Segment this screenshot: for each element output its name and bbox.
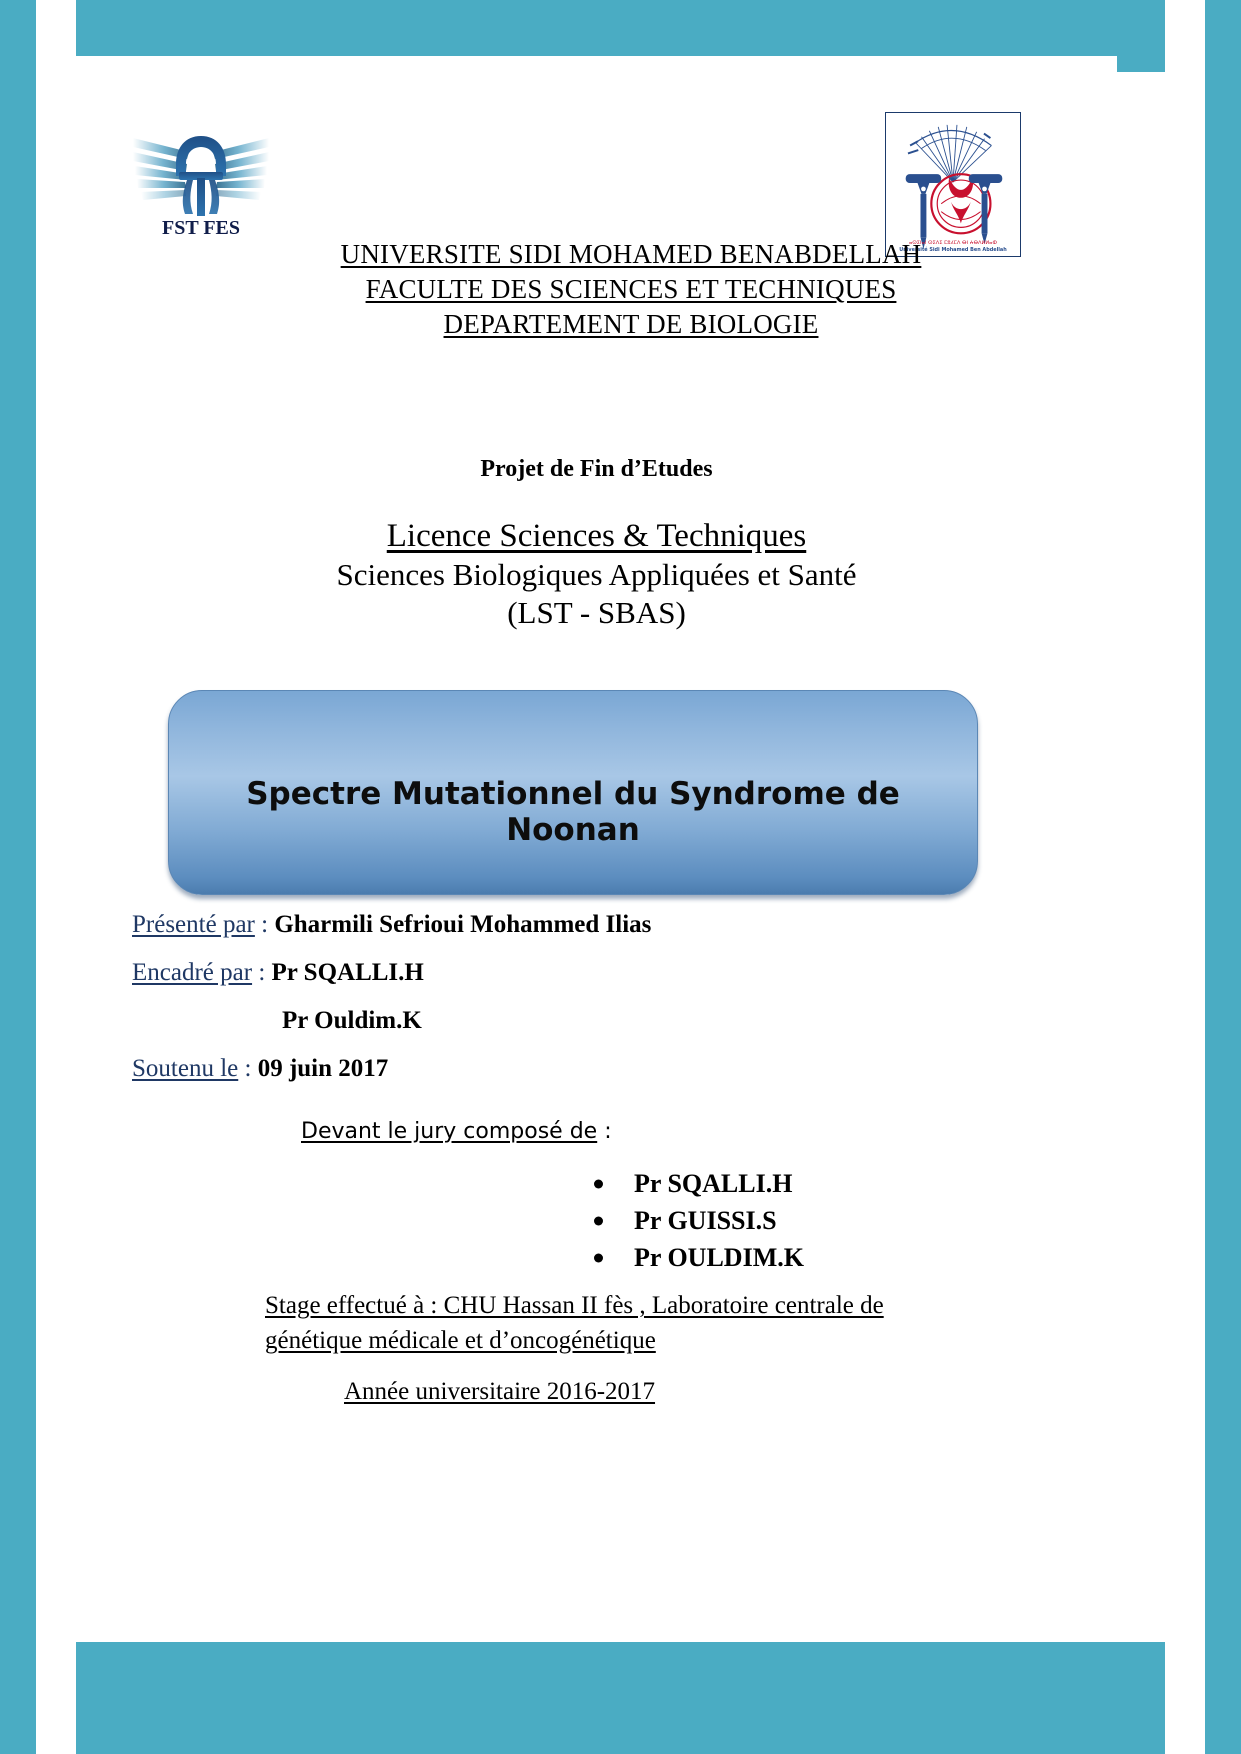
frame-band-left	[0, 0, 36, 1754]
jury-heading-suffix: :	[597, 1119, 611, 1144]
degree-line-2: Sciences Biologiques Appliquées et Santé	[76, 556, 1117, 594]
degree-line-1: Licence Sciences & Techniques	[76, 516, 1117, 556]
jury-heading: Devant le jury composé de :	[301, 1119, 612, 1144]
jury-member-list: Pr SQALLI.H Pr GUISSI.S Pr OULDIM.K	[594, 1166, 804, 1277]
internship-info: Stage effectué à : CHU Hassan II fès , L…	[265, 1288, 965, 1358]
cover-content: FST FES	[76, 56, 1117, 1442]
supervised-by-row: Encadré par : Pr SQALLI.H	[132, 959, 1112, 987]
jury-member-label: Pr SQALLI.H	[634, 1169, 792, 1198]
internship-line-2: génétique médicale et d’oncogénétique	[265, 1327, 656, 1354]
supervised-by-value-2: Pr Ouldim.K	[282, 1007, 422, 1034]
institution-header: UNIVERSITE SIDI MOHAMED BENABDELLAH FACU…	[281, 237, 981, 342]
bullet-icon	[594, 1180, 603, 1189]
frame-gap-left	[36, 0, 76, 1754]
jury-member-label: Pr OULDIM.K	[634, 1243, 804, 1272]
list-item: Pr OULDIM.K	[594, 1240, 804, 1277]
defended-on-value: 09 juin 2017	[258, 1055, 389, 1082]
frame-band-bottom	[0, 1642, 1241, 1754]
presented-by-separator: :	[255, 911, 274, 938]
cover-meta: Présenté par : Gharmili Sefrioui Mohamme…	[132, 911, 1112, 1103]
thesis-title: Spectre Mutationnel du Syndrome de Noona…	[169, 776, 977, 848]
header-line-faculty-text: FACULTE DES SCIENCES ET TECHNIQUES	[366, 274, 897, 304]
header-line-university-text: UNIVERSITE SIDI MOHAMED BENABDELLAH	[341, 239, 922, 269]
jury-heading-text: Devant le jury composé de	[301, 1119, 597, 1144]
internship-line-1: Stage effectué à : CHU Hassan II fès , L…	[265, 1292, 884, 1319]
svg-text:FST FES: FST FES	[162, 217, 240, 239]
degree-line-1-text: Licence Sciences & Techniques	[387, 518, 807, 554]
degree-line-3: (LST - SBAS)	[76, 594, 1117, 632]
presented-by-row: Présenté par : Gharmili Sefrioui Mohamme…	[132, 911, 1112, 939]
supervised-by-separator: :	[252, 959, 271, 986]
defended-on-row: Soutenu le : 09 juin 2017	[132, 1055, 1112, 1083]
jury-member-label: Pr GUISSI.S	[634, 1206, 777, 1235]
presented-by-label: Présenté par	[132, 911, 255, 938]
bullet-icon	[594, 1254, 603, 1263]
header-line-department: DEPARTEMENT DE BIOLOGIE	[281, 307, 981, 342]
frame-gap-right	[1165, 0, 1205, 1754]
defended-on-separator: :	[238, 1055, 257, 1082]
list-item: Pr SQALLI.H	[594, 1166, 804, 1203]
header-line-faculty: FACULTE DES SCIENCES ET TECHNIQUES	[281, 272, 981, 307]
supervised-by-value: Pr SQALLI.H	[272, 959, 424, 986]
document-cover-page: FST FES	[0, 0, 1241, 1754]
bullet-icon	[594, 1217, 603, 1226]
list-item: Pr GUISSI.S	[594, 1203, 804, 1240]
supervised-by-label: Encadré par	[132, 959, 252, 986]
defended-on-label: Soutenu le	[132, 1055, 238, 1082]
presented-by-value: Gharmili Sefrioui Mohammed Ilias	[274, 911, 651, 938]
academic-year: Année universitaire 2016-2017	[344, 1378, 655, 1406]
frame-band-right	[1205, 0, 1241, 1754]
header-line-university: UNIVERSITE SIDI MOHAMED BENABDELLAH	[281, 237, 981, 272]
thesis-title-box: Spectre Mutationnel du Syndrome de Noona…	[168, 690, 978, 895]
university-seal-logo: ⴰⵙⵉⵏⴰⵏ ⵙⵉⴷⵉ ⵎⵓⵃⵎⴷ ⴱⵏ ⵄⴱⴷⵍⵍⴰⵀ Université …	[885, 112, 1021, 257]
fst-fes-logo: FST FES	[131, 116, 271, 241]
supervised-by-row-second: Pr Ouldim.K	[132, 1007, 1112, 1035]
project-type-label: Projet de Fin d’Etudes	[76, 456, 1117, 483]
header-line-department-text: DEPARTEMENT DE BIOLOGIE	[444, 309, 819, 339]
degree-block: Licence Sciences & Techniques Sciences B…	[76, 516, 1117, 632]
